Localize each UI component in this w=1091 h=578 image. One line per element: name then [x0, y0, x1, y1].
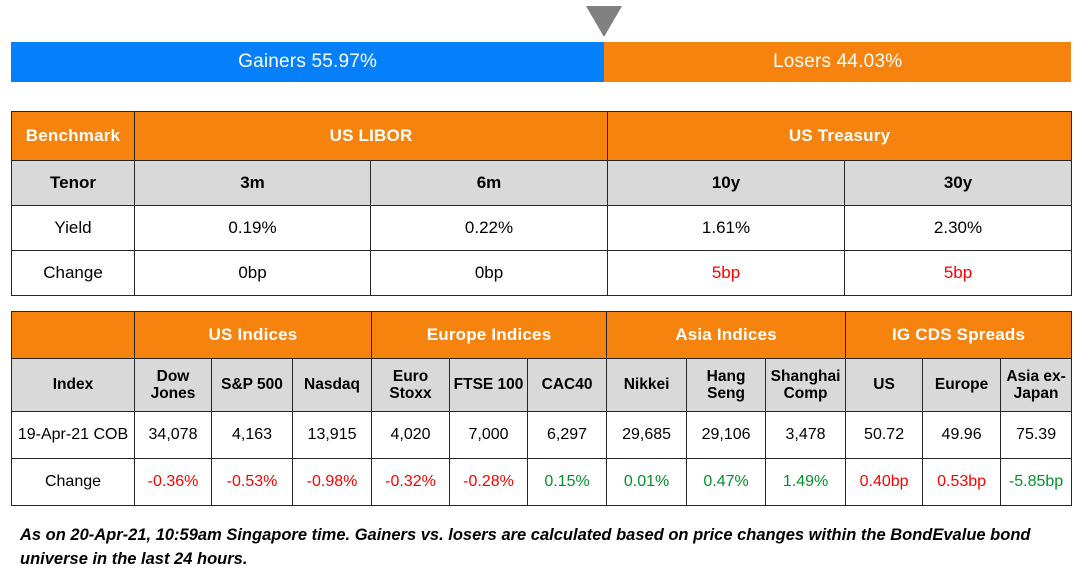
indices-cds-table: US Indices Europe Indices Asia Indices I… [11, 311, 1072, 506]
change-cds-europe: 0.53bp [923, 459, 1001, 506]
change-euro-stoxx: -0.32% [372, 459, 450, 506]
indices-corner-cell [12, 312, 135, 359]
gainers-losers-bar: Gainers 55.97% Losers 44.03% [11, 42, 1071, 82]
value-cds-europe: 49.96 [923, 412, 1001, 459]
group-header-us-treasury: US Treasury [608, 112, 1072, 161]
change-dow-jones: -0.36% [135, 459, 212, 506]
yield-row: Yield 0.19% 0.22% 1.61% 2.30% [12, 206, 1072, 251]
indices-column-header-row: Index Dow Jones S&P 500 Nasdaq Euro Stox… [12, 359, 1072, 412]
value-shanghai-comp: 3,478 [766, 412, 846, 459]
column-header-cds-asia-ex-japan: Asia ex-Japan [1001, 359, 1072, 412]
group-header-asia-indices: Asia Indices [607, 312, 846, 359]
change-30y: 5bp [845, 251, 1072, 296]
split-pointer-icon [586, 6, 622, 37]
column-header-cds-europe: Europe [923, 359, 1001, 412]
sentiment-bar-section: Gainers 55.97% Losers 44.03% [11, 6, 1071, 82]
indices-change-row: Change -0.36% -0.53% -0.98% -0.32% -0.28… [12, 459, 1072, 506]
benchmark-rates-table: Benchmark US LIBOR US Treasury Tenor 3m … [11, 111, 1072, 296]
benchmark-group-header-row: Benchmark US LIBOR US Treasury [12, 112, 1072, 161]
column-header-nikkei: Nikkei [607, 359, 687, 412]
tenor-10y: 10y [608, 161, 845, 206]
group-header-us-libor: US LIBOR [135, 112, 608, 161]
value-cac40: 6,297 [528, 412, 607, 459]
benchmark-corner-label: Benchmark [12, 112, 135, 161]
indices-value-row: 19-Apr-21 COB 34,078 4,163 13,915 4,020 … [12, 412, 1072, 459]
change-cds-us: 0.40bp [846, 459, 923, 506]
group-header-ig-cds-spreads: IG CDS Spreads [846, 312, 1072, 359]
footnote-text: As on 20-Apr-21, 10:59am Singapore time.… [20, 524, 1055, 572]
yield-6m: 0.22% [371, 206, 608, 251]
change-nasdaq: -0.98% [293, 459, 372, 506]
column-header-nasdaq: Nasdaq [293, 359, 372, 412]
change-hang-seng: 0.47% [687, 459, 766, 506]
value-euro-stoxx: 4,020 [372, 412, 450, 459]
change-10y: 5bp [608, 251, 845, 296]
row-label-cob-date: 19-Apr-21 COB [12, 412, 135, 459]
change-6m: 0bp [371, 251, 608, 296]
gainers-segment[interactable]: Gainers 55.97% [11, 42, 604, 82]
value-nikkei: 29,685 [607, 412, 687, 459]
column-header-cds-us: US [846, 359, 923, 412]
row-label-yield: Yield [12, 206, 135, 251]
tenor-3m: 3m [135, 161, 371, 206]
yield-10y: 1.61% [608, 206, 845, 251]
change-nikkei: 0.01% [607, 459, 687, 506]
tenor-row: Tenor 3m 6m 10y 30y [12, 161, 1072, 206]
column-header-index: Index [12, 359, 135, 412]
tenor-30y: 30y [845, 161, 1072, 206]
column-header-euro-stoxx: Euro Stoxx [372, 359, 450, 412]
column-header-cac40: CAC40 [528, 359, 607, 412]
group-header-europe-indices: Europe Indices [372, 312, 607, 359]
losers-label: Losers 44.03% [773, 51, 902, 73]
group-header-us-indices: US Indices [135, 312, 372, 359]
value-ftse-100: 7,000 [450, 412, 528, 459]
value-nasdaq: 13,915 [293, 412, 372, 459]
column-header-hang-seng: Hang Seng [687, 359, 766, 412]
column-header-shanghai-comp: Shanghai Comp [766, 359, 846, 412]
value-cds-us: 50.72 [846, 412, 923, 459]
gainers-label: Gainers 55.97% [238, 51, 377, 73]
value-sp-500: 4,163 [212, 412, 293, 459]
column-header-dow-jones: Dow Jones [135, 359, 212, 412]
row-label-indices-change: Change [12, 459, 135, 506]
change-sp-500: -0.53% [212, 459, 293, 506]
indices-group-header-row: US Indices Europe Indices Asia Indices I… [12, 312, 1072, 359]
column-header-sp-500: S&P 500 [212, 359, 293, 412]
losers-segment[interactable]: Losers 44.03% [604, 42, 1071, 82]
yield-3m: 0.19% [135, 206, 371, 251]
benchmark-change-row: Change 0bp 0bp 5bp 5bp [12, 251, 1072, 296]
value-cds-asia-ex-japan: 75.39 [1001, 412, 1072, 459]
yield-30y: 2.30% [845, 206, 1072, 251]
change-3m: 0bp [135, 251, 371, 296]
change-cac40: 0.15% [528, 459, 607, 506]
change-ftse-100: -0.28% [450, 459, 528, 506]
change-shanghai-comp: 1.49% [766, 459, 846, 506]
row-label-tenor: Tenor [12, 161, 135, 206]
column-header-ftse-100: FTSE 100 [450, 359, 528, 412]
value-dow-jones: 34,078 [135, 412, 212, 459]
row-label-change: Change [12, 251, 135, 296]
value-hang-seng: 29,106 [687, 412, 766, 459]
change-cds-asia-ex-japan: -5.85bp [1001, 459, 1072, 506]
tenor-6m: 6m [371, 161, 608, 206]
